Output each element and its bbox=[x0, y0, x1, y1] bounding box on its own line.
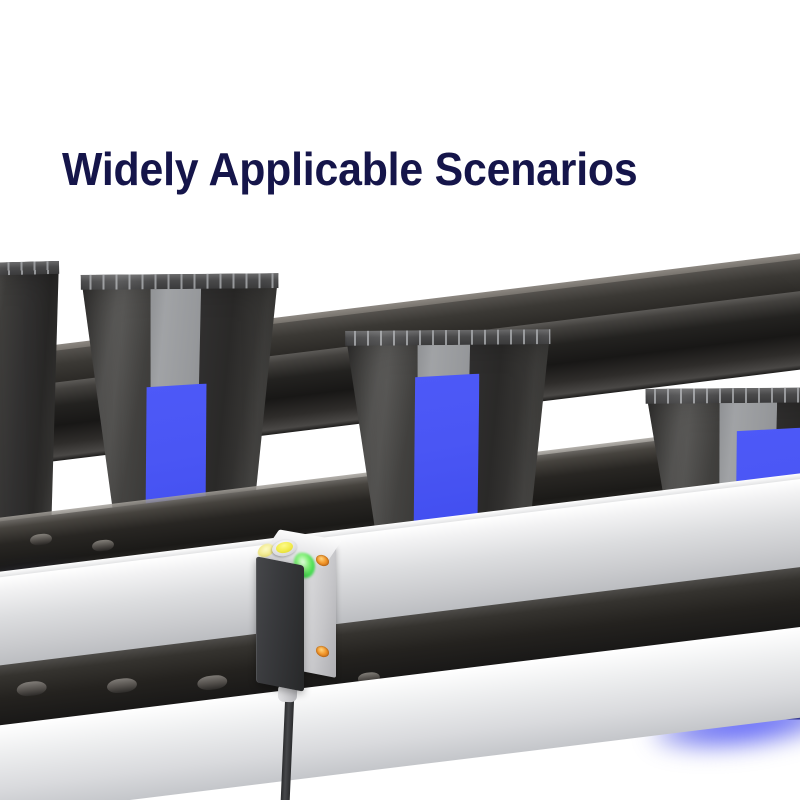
page-title: Widely Applicable Scenarios bbox=[62, 145, 637, 193]
photoelectric-sensor[interactable] bbox=[250, 533, 342, 701]
frame-roller bbox=[106, 677, 137, 695]
screenshot-root: Widely Applicable Scenarios bbox=[0, 0, 800, 800]
pouch-label bbox=[412, 374, 480, 528]
frame-roller bbox=[16, 680, 47, 698]
pouch-seal-teeth bbox=[77, 273, 285, 290]
pouch-seal-teeth bbox=[641, 387, 800, 404]
conveyor-inspection-scene bbox=[0, 0, 800, 800]
pouch-seal-teeth bbox=[341, 329, 557, 346]
frame-roller bbox=[197, 674, 228, 692]
sensor-front-face bbox=[256, 556, 304, 691]
